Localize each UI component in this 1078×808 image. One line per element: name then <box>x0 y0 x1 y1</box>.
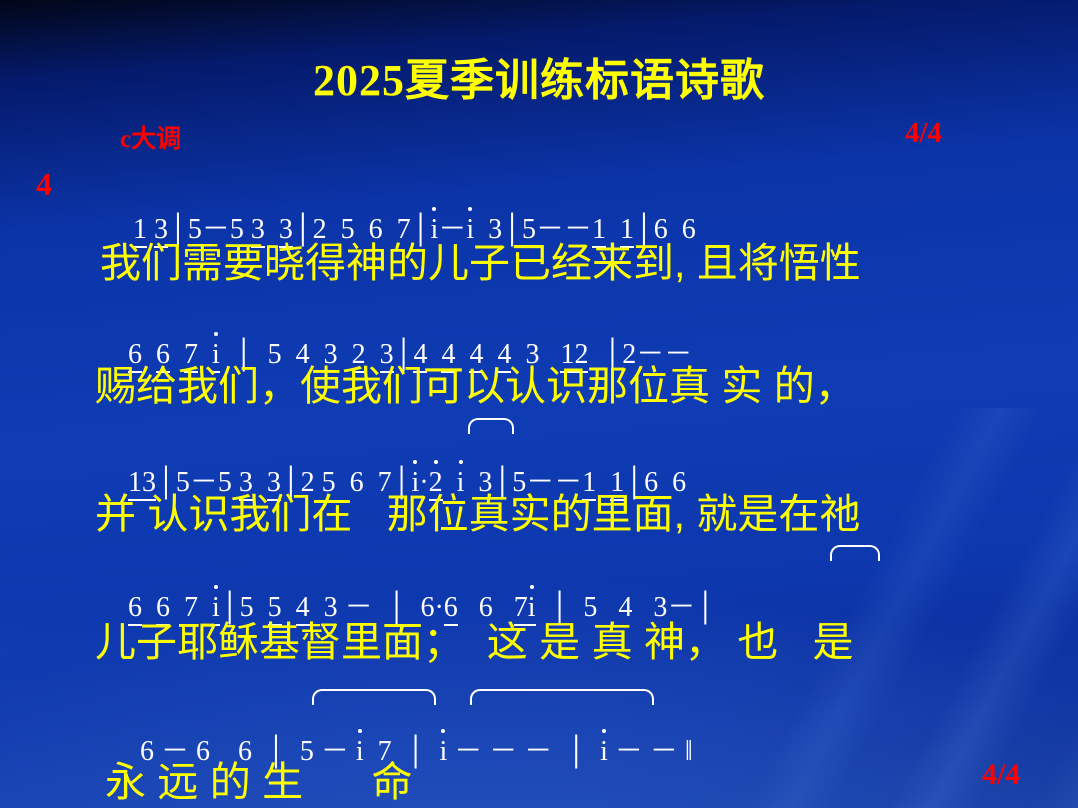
note-high: i <box>600 736 608 767</box>
time-signature-bottom: 4/4 <box>982 758 1020 792</box>
upbeat-number: 4 <box>36 166 52 203</box>
lyric-line-3: 并 认识我们在 那位真实的里面, 就是在祂 <box>95 480 860 540</box>
time-signature-top: 4/4 <box>905 117 942 150</box>
key-signature-label: c大调 <box>120 119 181 155</box>
lyric-line-4: 儿子耶稣基督里面； 这 是 真 神， 也 是 <box>95 608 854 668</box>
lyric-line-5: 永 远 的 生 命 <box>105 748 413 808</box>
slide-canvas: 2025夏季训练标语诗歌 c大调 4/4 4 4/4 1 3│5－5 3 3│2… <box>0 0 1078 808</box>
note-high: i <box>439 736 447 767</box>
lyric-line-1: 我们需要晓得神的儿子已经来到, 且将悟性 <box>100 229 861 289</box>
lyric-line-2: 赐给我们，使我们可以认识那位真 实 的， <box>95 352 856 412</box>
page-title: 2025夏季训练标语诗歌 <box>0 44 1078 108</box>
tie-mark <box>830 545 880 561</box>
